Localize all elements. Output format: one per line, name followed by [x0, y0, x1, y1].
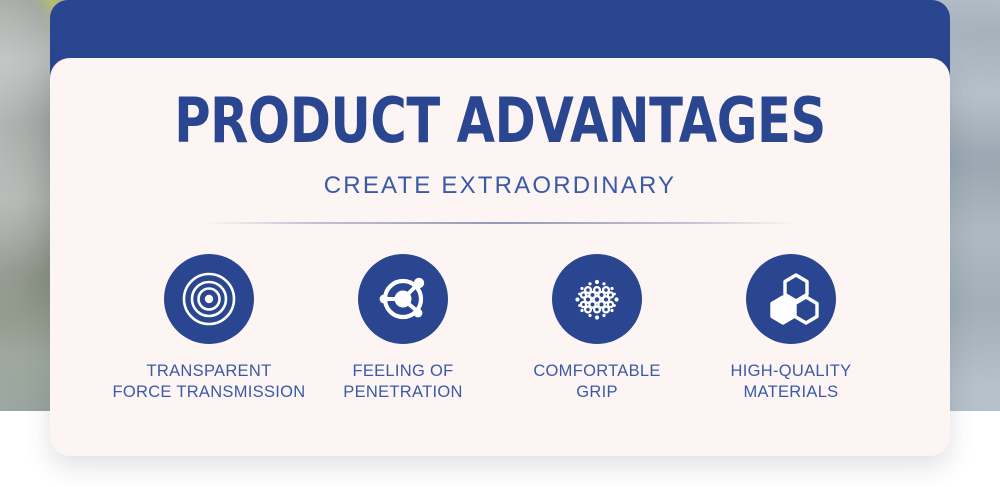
page-title: PRODUCT ADVANTAGES	[172, 90, 828, 152]
feature-icon-badge	[552, 254, 642, 344]
feature-item[interactable]: HIGH-QUALITY MATERIALS	[694, 254, 888, 403]
feature-item[interactable]: TRANSPARENT FORCE TRANSMISSION	[112, 254, 306, 403]
feature-label: TRANSPARENT FORCE TRANSMISSION	[112, 361, 305, 403]
feature-label: COMFORTABLE GRIP	[533, 361, 660, 403]
feature-item[interactable]: COMFORTABLE GRIP	[500, 254, 694, 403]
concentric-circles-icon	[180, 270, 238, 328]
penetration-target-icon	[375, 271, 431, 327]
feature-item[interactable]: FEELING OF PENETRATION	[306, 254, 500, 403]
feature-icon-badge	[358, 254, 448, 344]
feature-label: FEELING OF PENETRATION	[343, 361, 462, 403]
product-advantages-banner: PRODUCT ADVANTAGES CREATE EXTRAORDINARY	[0, 0, 1000, 487]
feature-icon-badge	[746, 254, 836, 344]
content-card: PRODUCT ADVANTAGES CREATE EXTRAORDINARY	[50, 58, 950, 456]
hexagon-cluster-icon	[763, 271, 819, 327]
dot-grip-pattern-icon	[568, 270, 626, 328]
feature-list: TRANSPARENT FORCE TRANSMISSION	[90, 254, 910, 403]
feature-icon-badge	[164, 254, 254, 344]
page-subtitle: CREATE EXTRAORDINARY	[90, 172, 910, 200]
feature-label: HIGH-QUALITY MATERIALS	[731, 361, 852, 403]
divider	[205, 222, 795, 224]
